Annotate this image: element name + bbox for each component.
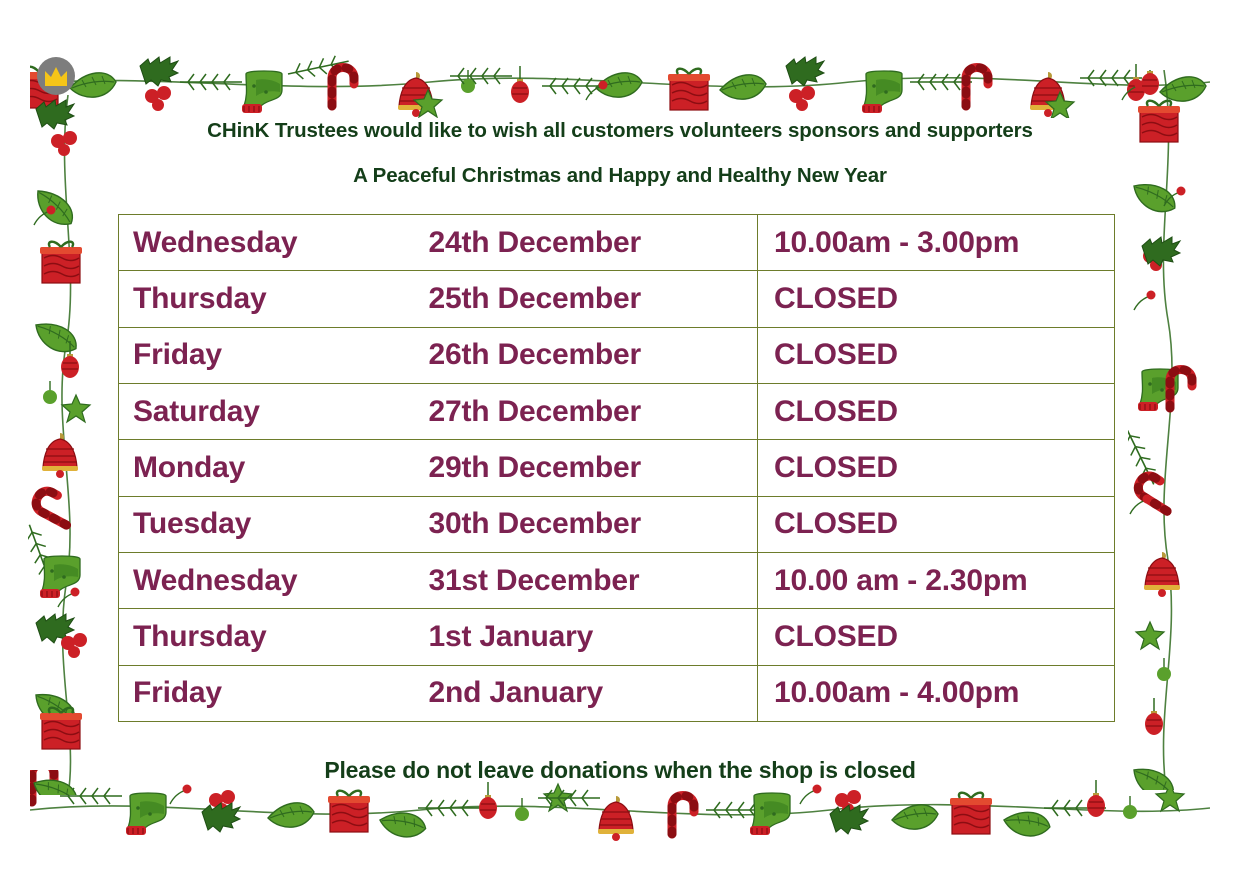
cell-hours: 10.00 am - 2.30pm — [758, 552, 1115, 608]
cell-hours-text: 10.00 am - 2.30pm — [766, 566, 1027, 596]
cell-date: 24th December — [421, 215, 758, 271]
cell-date: 2nd January — [421, 665, 758, 721]
crown-medallion-icon — [34, 56, 78, 102]
cell-day-text: Tuesday — [127, 509, 251, 539]
cell-date-text: 24th December — [429, 228, 642, 258]
table-row: Thursday1st JanuaryCLOSED — [119, 609, 1115, 665]
cell-hours: CLOSED — [758, 383, 1115, 439]
cell-day: Thursday — [119, 609, 421, 665]
cell-date-text: 29th December — [429, 453, 642, 483]
cell-date-text: 26th December — [429, 340, 642, 370]
cell-day: Monday — [119, 440, 421, 496]
opening-hours-table: Wednesday24th December10.00am - 3.00pmTh… — [118, 214, 1115, 722]
cell-day-text: Friday — [127, 340, 222, 370]
decorative-border-top — [30, 48, 1210, 118]
cell-hours: 10.00am - 3.00pm — [758, 215, 1115, 271]
cell-hours: CLOSED — [758, 271, 1115, 327]
cell-day-text: Thursday — [127, 622, 266, 652]
cell-day: Friday — [119, 665, 421, 721]
cell-hours-text: CLOSED — [766, 622, 898, 652]
table-row: Wednesday31st December10.00 am - 2.30pm — [119, 552, 1115, 608]
cell-day: Wednesday — [119, 552, 421, 608]
cell-hours: CLOSED — [758, 327, 1115, 383]
cell-hours-text: CLOSED — [766, 340, 898, 370]
cell-day: Tuesday — [119, 496, 421, 552]
cell-hours-text: CLOSED — [766, 284, 898, 314]
cell-date-text: 30th December — [429, 509, 642, 539]
greeting-line-1: CHinK Trustees would like to wish all cu… — [0, 119, 1240, 143]
cell-date-text: 1st January — [429, 622, 594, 652]
cell-date: 29th December — [421, 440, 758, 496]
cell-date-text: 2nd January — [429, 678, 604, 708]
cell-date: 1st January — [421, 609, 758, 665]
cell-hours-text: 10.00am - 4.00pm — [766, 678, 1019, 708]
cell-date-text: 25th December — [429, 284, 642, 314]
table-row: Saturday27th DecemberCLOSED — [119, 383, 1115, 439]
cell-date: 27th December — [421, 383, 758, 439]
cell-hours: CLOSED — [758, 609, 1115, 665]
cell-day-text: Friday — [127, 678, 222, 708]
cell-hours-text: CLOSED — [766, 397, 898, 427]
table-row: Wednesday24th December10.00am - 3.00pm — [119, 215, 1115, 271]
cell-hours-text: CLOSED — [766, 509, 898, 539]
cell-day: Saturday — [119, 383, 421, 439]
table-row: Friday2nd January10.00am - 4.00pm — [119, 665, 1115, 721]
donations-notice: Please do not leave donations when the s… — [0, 757, 1240, 784]
cell-date-text: 27th December — [429, 397, 642, 427]
cell-day: Friday — [119, 327, 421, 383]
cell-hours-text: 10.00am - 3.00pm — [766, 228, 1019, 258]
cell-date-text: 31st December — [429, 566, 640, 596]
cell-date: 25th December — [421, 271, 758, 327]
cell-day: Thursday — [119, 271, 421, 327]
cell-date: 26th December — [421, 327, 758, 383]
table-row: Monday29th DecemberCLOSED — [119, 440, 1115, 496]
cell-day-text: Thursday — [127, 284, 266, 314]
decorative-border-left — [28, 95, 106, 795]
cell-day-text: Saturday — [127, 397, 260, 427]
table-row: Tuesday30th DecemberCLOSED — [119, 496, 1115, 552]
cell-date: 31st December — [421, 552, 758, 608]
cell-day-text: Wednesday — [127, 566, 297, 596]
cell-day: Wednesday — [119, 215, 421, 271]
cell-day-text: Monday — [127, 453, 245, 483]
table-row: Thursday25th DecemberCLOSED — [119, 271, 1115, 327]
christmas-opening-hours-poster: CHinK Trustees would like to wish all cu… — [0, 0, 1240, 874]
greeting-line-2: A Peaceful Christmas and Happy and Healt… — [0, 164, 1240, 188]
cell-hours: CLOSED — [758, 496, 1115, 552]
cell-day-text: Wednesday — [127, 228, 297, 258]
table-row: Friday26th DecemberCLOSED — [119, 327, 1115, 383]
cell-hours-text: CLOSED — [766, 453, 898, 483]
cell-hours: CLOSED — [758, 440, 1115, 496]
cell-date: 30th December — [421, 496, 758, 552]
cell-hours: 10.00am - 4.00pm — [758, 665, 1115, 721]
